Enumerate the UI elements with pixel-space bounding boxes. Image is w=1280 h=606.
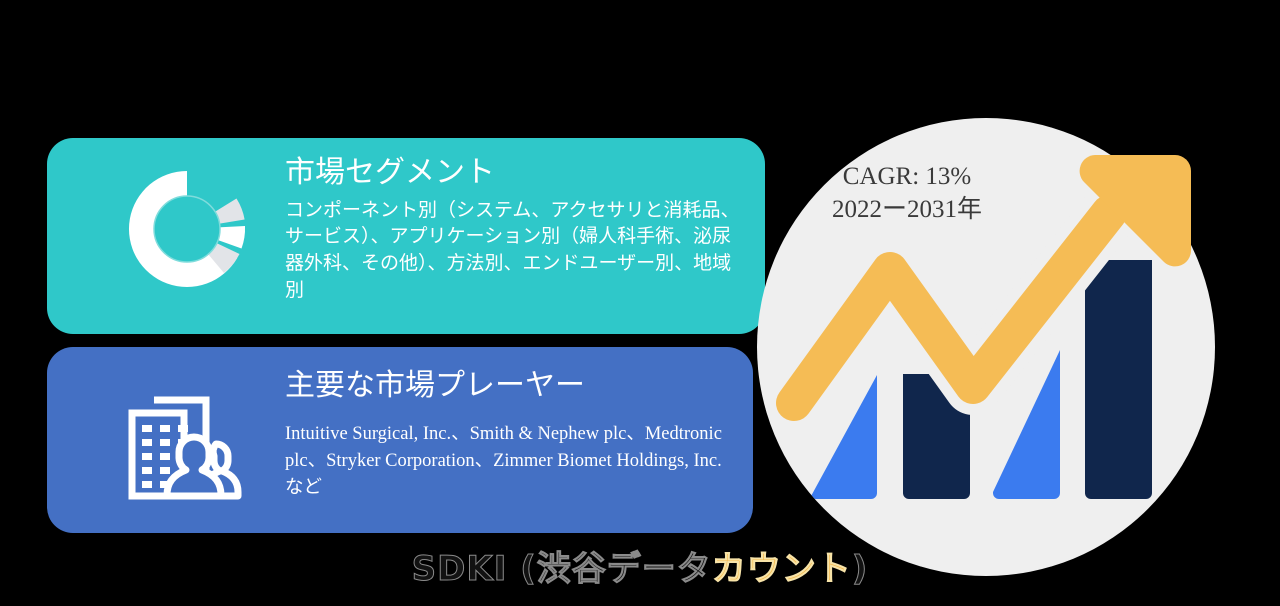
card-market-segment: 市場セグメント コンポーネント別（システム、アクセサリと消耗品、サービス）、アプ…	[47, 138, 765, 334]
infographic-canvas: 市場セグメント コンポーネント別（システム、アクセサリと消耗品、サービス）、アプ…	[0, 0, 1280, 606]
card-key-market-players: 主要な市場プレーヤー Intuitive Surgical, Inc.、Smit…	[47, 347, 753, 533]
market-segment-content: 市場セグメント コンポーネント別（システム、アクセサリと消耗品、サービス）、アプ…	[285, 154, 743, 305]
watermark-prefix: SDKI (渋谷データ	[412, 549, 712, 589]
card-title-market-segment: 市場セグメント	[285, 154, 743, 192]
card-text-key-players: Intuitive Surgical, Inc.、Smith & Nephew …	[285, 421, 731, 503]
card-text-market-segment: コンポーネント別（システム、アクセサリと消耗品、サービス）、アプリケーション別（…	[285, 198, 743, 306]
growth-chart-icon	[757, 118, 1215, 576]
key-players-content: 主要な市場プレーヤー Intuitive Surgical, Inc.、Smit…	[285, 367, 731, 503]
company-people-icon	[117, 365, 257, 515]
donut-chart-icon	[117, 154, 257, 304]
bar-4	[1085, 260, 1152, 499]
card-title-key-players: 主要な市場プレーヤー	[285, 367, 731, 405]
